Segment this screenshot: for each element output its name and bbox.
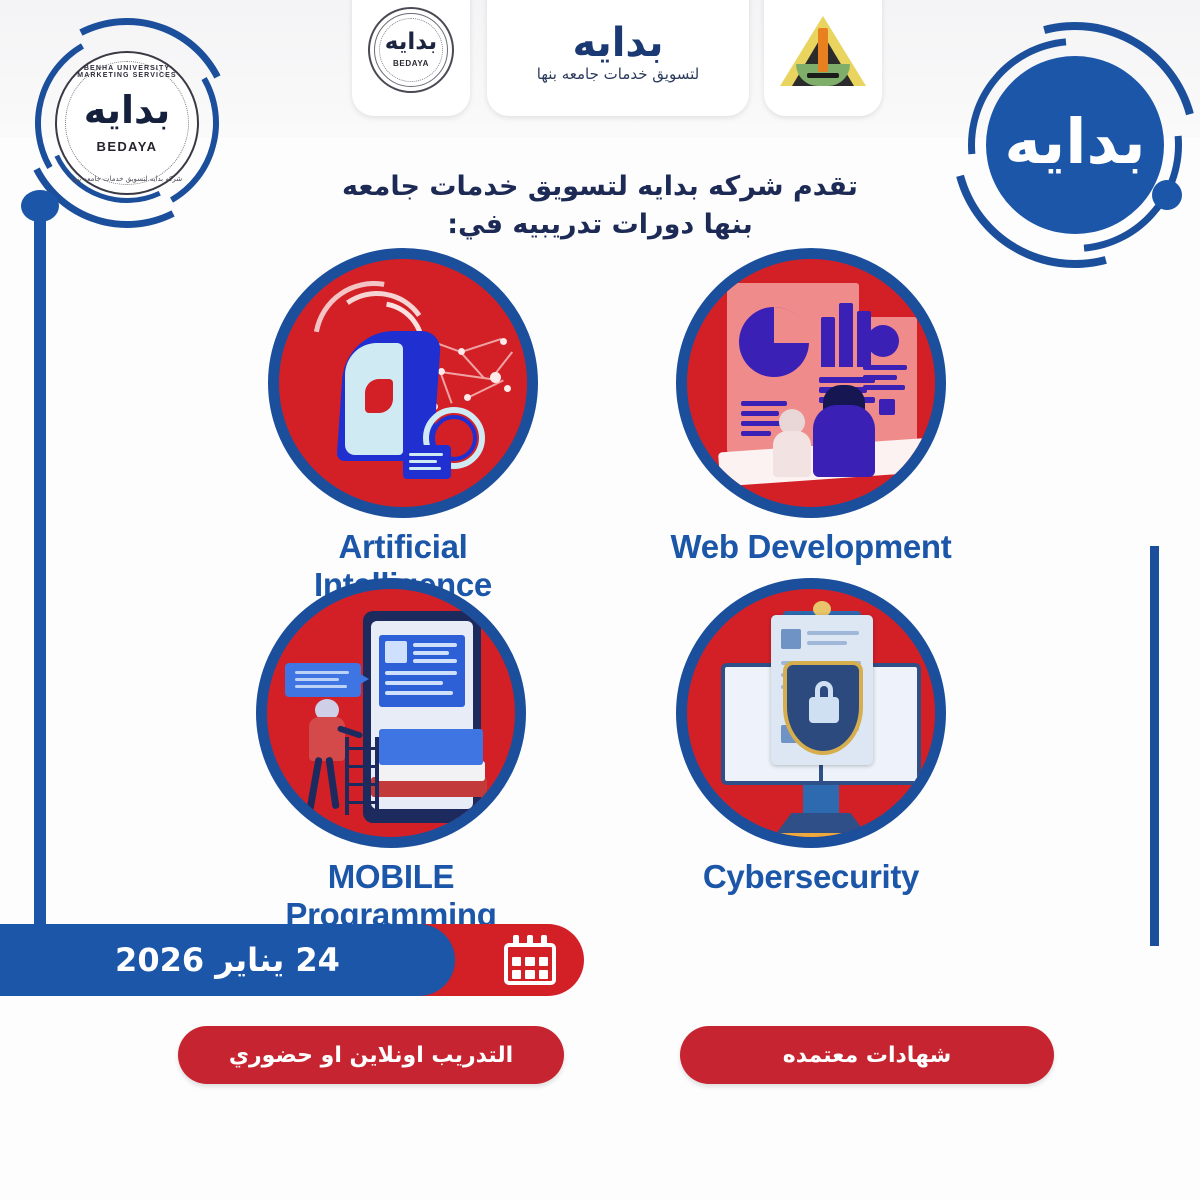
course-item-mobile-programming[interactable]: MOBILE Programming	[246, 578, 536, 934]
logo-card-benha-university	[764, 0, 882, 116]
bedaya-seal-small-icon: بدايه BEDAYA	[368, 7, 454, 93]
course-label: Cybersecurity	[666, 858, 956, 896]
page-title: تقدم شركه بدايه لتسويق خدمات جامعه بنها …	[330, 168, 870, 245]
badge-arabic-text: بدايه	[1004, 111, 1145, 173]
poster-canvas: بدايه BEDAYA بدايه لتسويق خدمات جامعه بن…	[0, 0, 1200, 1200]
date-bar: 24 يناير 2026	[0, 924, 455, 996]
seal-english-mark: BEDAYA	[57, 139, 197, 154]
course-label: Web Development	[666, 528, 956, 566]
left-vertical-connector	[34, 212, 46, 930]
bedaya-wordmark-sub: لتسويق خدمات جامعه بنها	[537, 65, 699, 83]
shield-lock-monitor-icon	[676, 578, 946, 848]
course-item-web-development[interactable]: Web Development	[666, 248, 956, 566]
ai-brain-icon	[268, 248, 538, 518]
calendar-icon	[504, 935, 556, 985]
seal-ring-text: BENHA UNIVERSITY MARKETING SERVICES	[57, 65, 197, 79]
course-label: MOBILE Programming	[246, 858, 536, 934]
badge-training-mode-label: التدريب اونلاين او حضوري	[229, 1043, 513, 1068]
bedaya-seal-small-english: BEDAYA	[368, 59, 454, 68]
logo-card-bedaya-seal: بدايه BEDAYA	[352, 0, 470, 116]
badge-accent-dot-icon	[1152, 180, 1182, 210]
bedaya-wordmark-main: بدايه	[537, 23, 699, 63]
bedaya-seal-small-arabic: بدايه	[368, 31, 454, 54]
seal-bottom-text: شركه بدايه لتسويق خدمات جامعه بنها	[57, 175, 197, 183]
benha-university-emblem-icon	[780, 10, 866, 90]
web-dashboard-icon	[676, 248, 946, 518]
badge-training-mode[interactable]: التدريب اونلاين او حضوري	[178, 1026, 564, 1084]
badge-certificates[interactable]: شهادات معتمده	[680, 1026, 1054, 1084]
badge-certificates-label: شهادات معتمده	[783, 1043, 951, 1068]
course-item-cybersecurity[interactable]: Cybersecurity	[666, 578, 956, 896]
mobile-books-icon	[256, 578, 526, 848]
logo-card-bedaya-wordmark: بدايه لتسويق خدمات جامعه بنها	[487, 0, 749, 116]
seal-arabic-mark: بدايه	[57, 91, 197, 129]
course-item-artificial-intelligence[interactable]: Artificial Intelligence	[258, 248, 548, 604]
right-vertical-connector	[1150, 546, 1159, 946]
bedaya-circular-badge: بدايه	[952, 22, 1198, 268]
date-text: 24 يناير 2026	[115, 941, 340, 979]
